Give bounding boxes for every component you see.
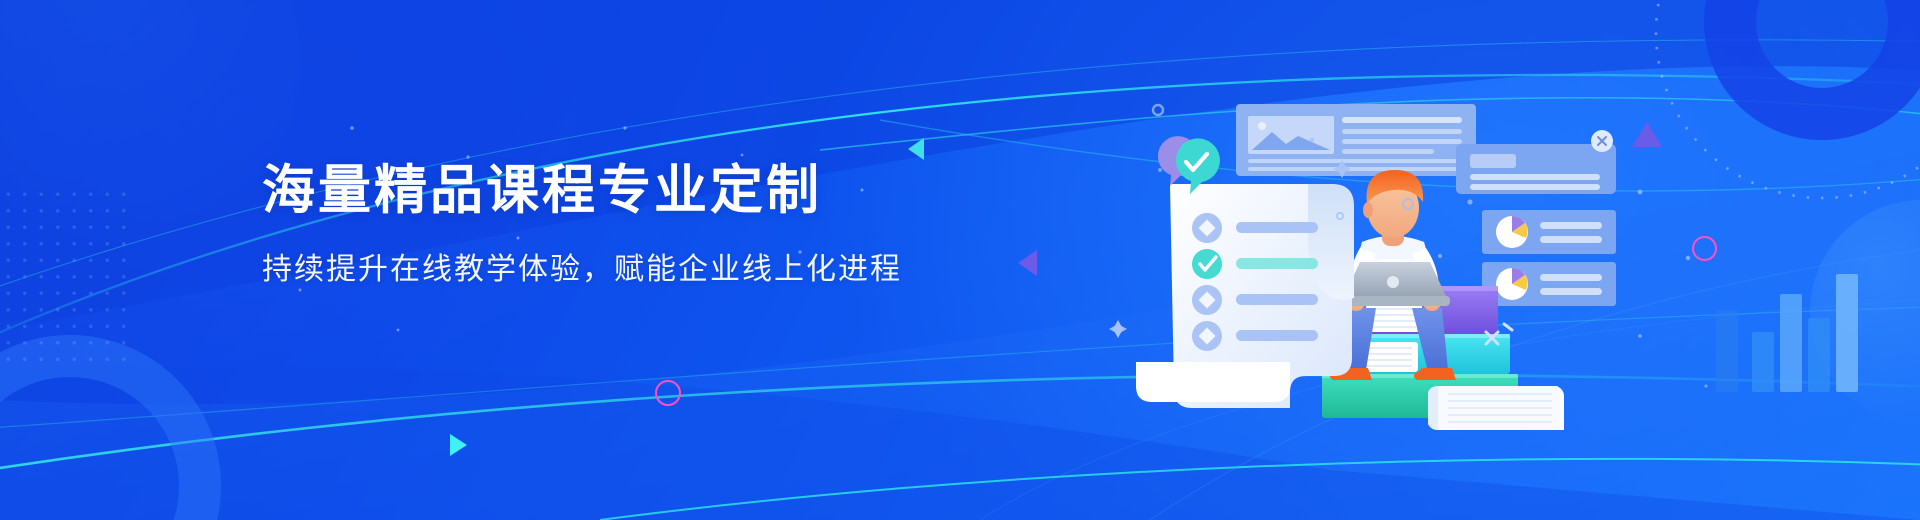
pie-chart-card-2 bbox=[1482, 262, 1616, 306]
message-card bbox=[1456, 144, 1616, 194]
book-front-white bbox=[1428, 386, 1564, 430]
sparkle-dot bbox=[397, 329, 400, 332]
hero-banner: 海量精品课程专业定制 持续提升在线教学体验，赋能企业线上化进程 bbox=[0, 0, 1920, 520]
pie-chart-card-1 bbox=[1482, 210, 1616, 254]
banner-copy: 海量精品课程专业定制 持续提升在线教学体验，赋能企业线上化进程 bbox=[262, 160, 1042, 288]
shoe-right bbox=[1414, 368, 1456, 380]
sparkle-dot bbox=[299, 289, 302, 292]
close-badge[interactable] bbox=[1591, 130, 1613, 152]
article-card bbox=[1236, 104, 1476, 176]
sparkle-dot bbox=[623, 126, 626, 129]
checklist-document bbox=[1136, 184, 1354, 408]
sparkle-dot bbox=[741, 154, 744, 157]
page-subtitle: 持续提升在线教学体验，赋能企业线上化进程 bbox=[262, 244, 1042, 288]
sparkle-dot bbox=[466, 155, 469, 158]
page-title: 海量精品课程专业定制 bbox=[262, 160, 1042, 223]
online-education-illustration bbox=[1140, 96, 1900, 426]
paper-foot bbox=[1136, 362, 1290, 402]
bar-chart-decor bbox=[1716, 274, 1858, 392]
sparkle-dot bbox=[350, 126, 354, 130]
